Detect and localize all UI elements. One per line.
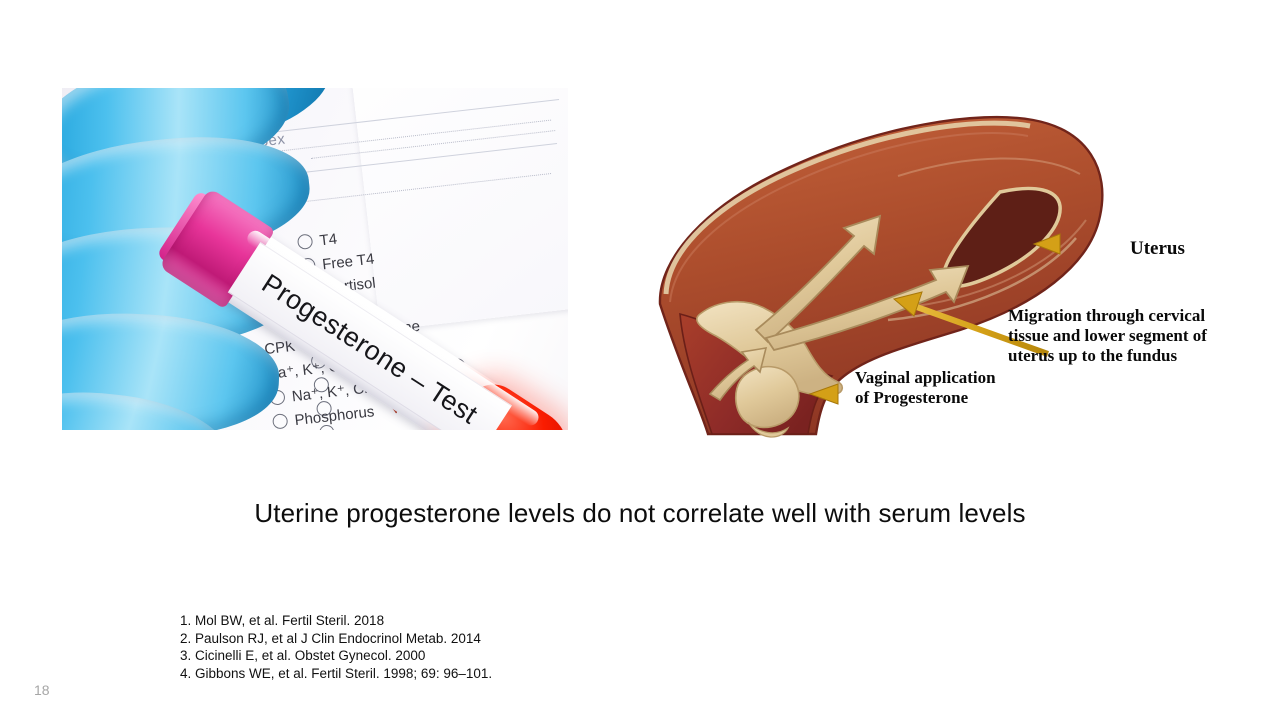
diagram-label-vaginal-application: Vaginal application of Progesterone <box>855 368 1005 408</box>
progesterone-test-photo: Sex T4 Free T4 Cortisol TSH Progesterone… <box>62 88 568 430</box>
diagram-label-uterus: Uterus <box>1130 238 1185 260</box>
diagram-label-migration: Migration through cervical tissue and lo… <box>1008 306 1224 366</box>
reference-item: 4. Gibbons WE, et al. Fertil Steril. 199… <box>180 665 492 683</box>
reference-item: 2. Paulson RJ, et al J Clin Endocrinol M… <box>180 630 492 648</box>
references-list: 1. Mol BW, et al. Fertil Steril. 2018 2.… <box>180 612 492 682</box>
slide-title: Uterine progesterone levels do not corre… <box>0 498 1280 529</box>
reference-item: 1. Mol BW, et al. Fertil Steril. 2018 <box>180 612 492 630</box>
progesterone-suppository <box>736 367 799 428</box>
slide-canvas: Sex T4 Free T4 Cortisol TSH Progesterone… <box>0 0 1280 720</box>
slide-number: 18 <box>34 682 50 698</box>
reference-item: 3. Cicinelli E, et al. Obstet Gynecol. 2… <box>180 647 492 665</box>
